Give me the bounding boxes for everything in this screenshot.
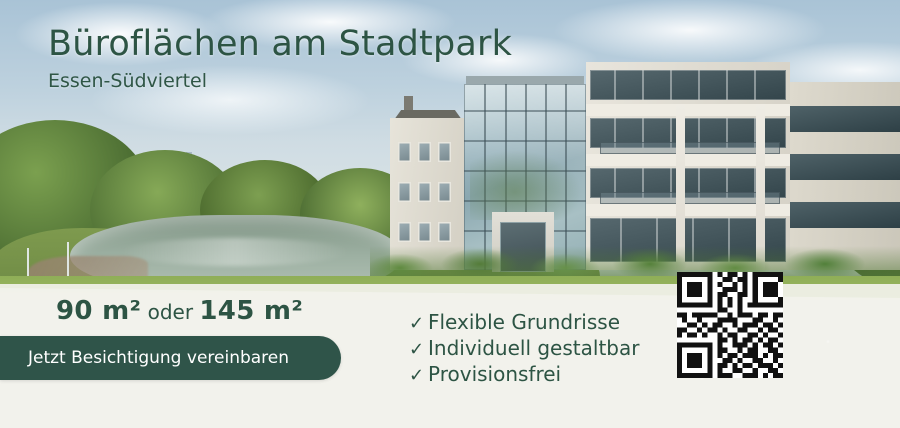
window-band [590,70,786,100]
balcony-railing [600,142,780,154]
list-item: ✓ Individuell gestaltbar [409,336,639,362]
qr-code[interactable] [677,272,783,378]
area-option-b: 145 m² [199,296,303,326]
list-item: ✓ Flexible Grundrisse [409,310,639,336]
check-icon: ✓ [409,337,428,362]
check-icon: ✓ [409,363,428,388]
feature-label: Individuell gestaltbar [428,336,639,361]
river-reflection [120,238,350,266]
list-item: ✓ Provisionsfrei [409,362,639,388]
feature-label: Provisionsfrei [428,362,561,387]
location-subtitle: Essen-Südviertel [48,70,207,92]
area-options: 90 m² oder 145 m² [56,296,303,326]
area-option-a: 90 m² [56,296,141,326]
schedule-viewing-button[interactable]: Jetzt Besichtigung vereinbaren [0,336,341,380]
schedule-viewing-label: Jetzt Besichtigung vereinbaren [28,348,289,368]
real-estate-banner: Büroflächen am Stadtpark Essen-Südvierte… [0,0,900,428]
area-connector: oder [141,300,199,324]
feature-list: ✓ Flexible Grundrisse ✓ Individuell gest… [409,310,639,388]
atrium-reflection [470,150,582,220]
feature-label: Flexible Grundrisse [428,310,620,335]
check-icon: ✓ [409,311,428,336]
adjacent-block [790,82,900,270]
balcony-railing [600,192,780,204]
page-title: Büroflächen am Stadtpark [48,24,512,64]
